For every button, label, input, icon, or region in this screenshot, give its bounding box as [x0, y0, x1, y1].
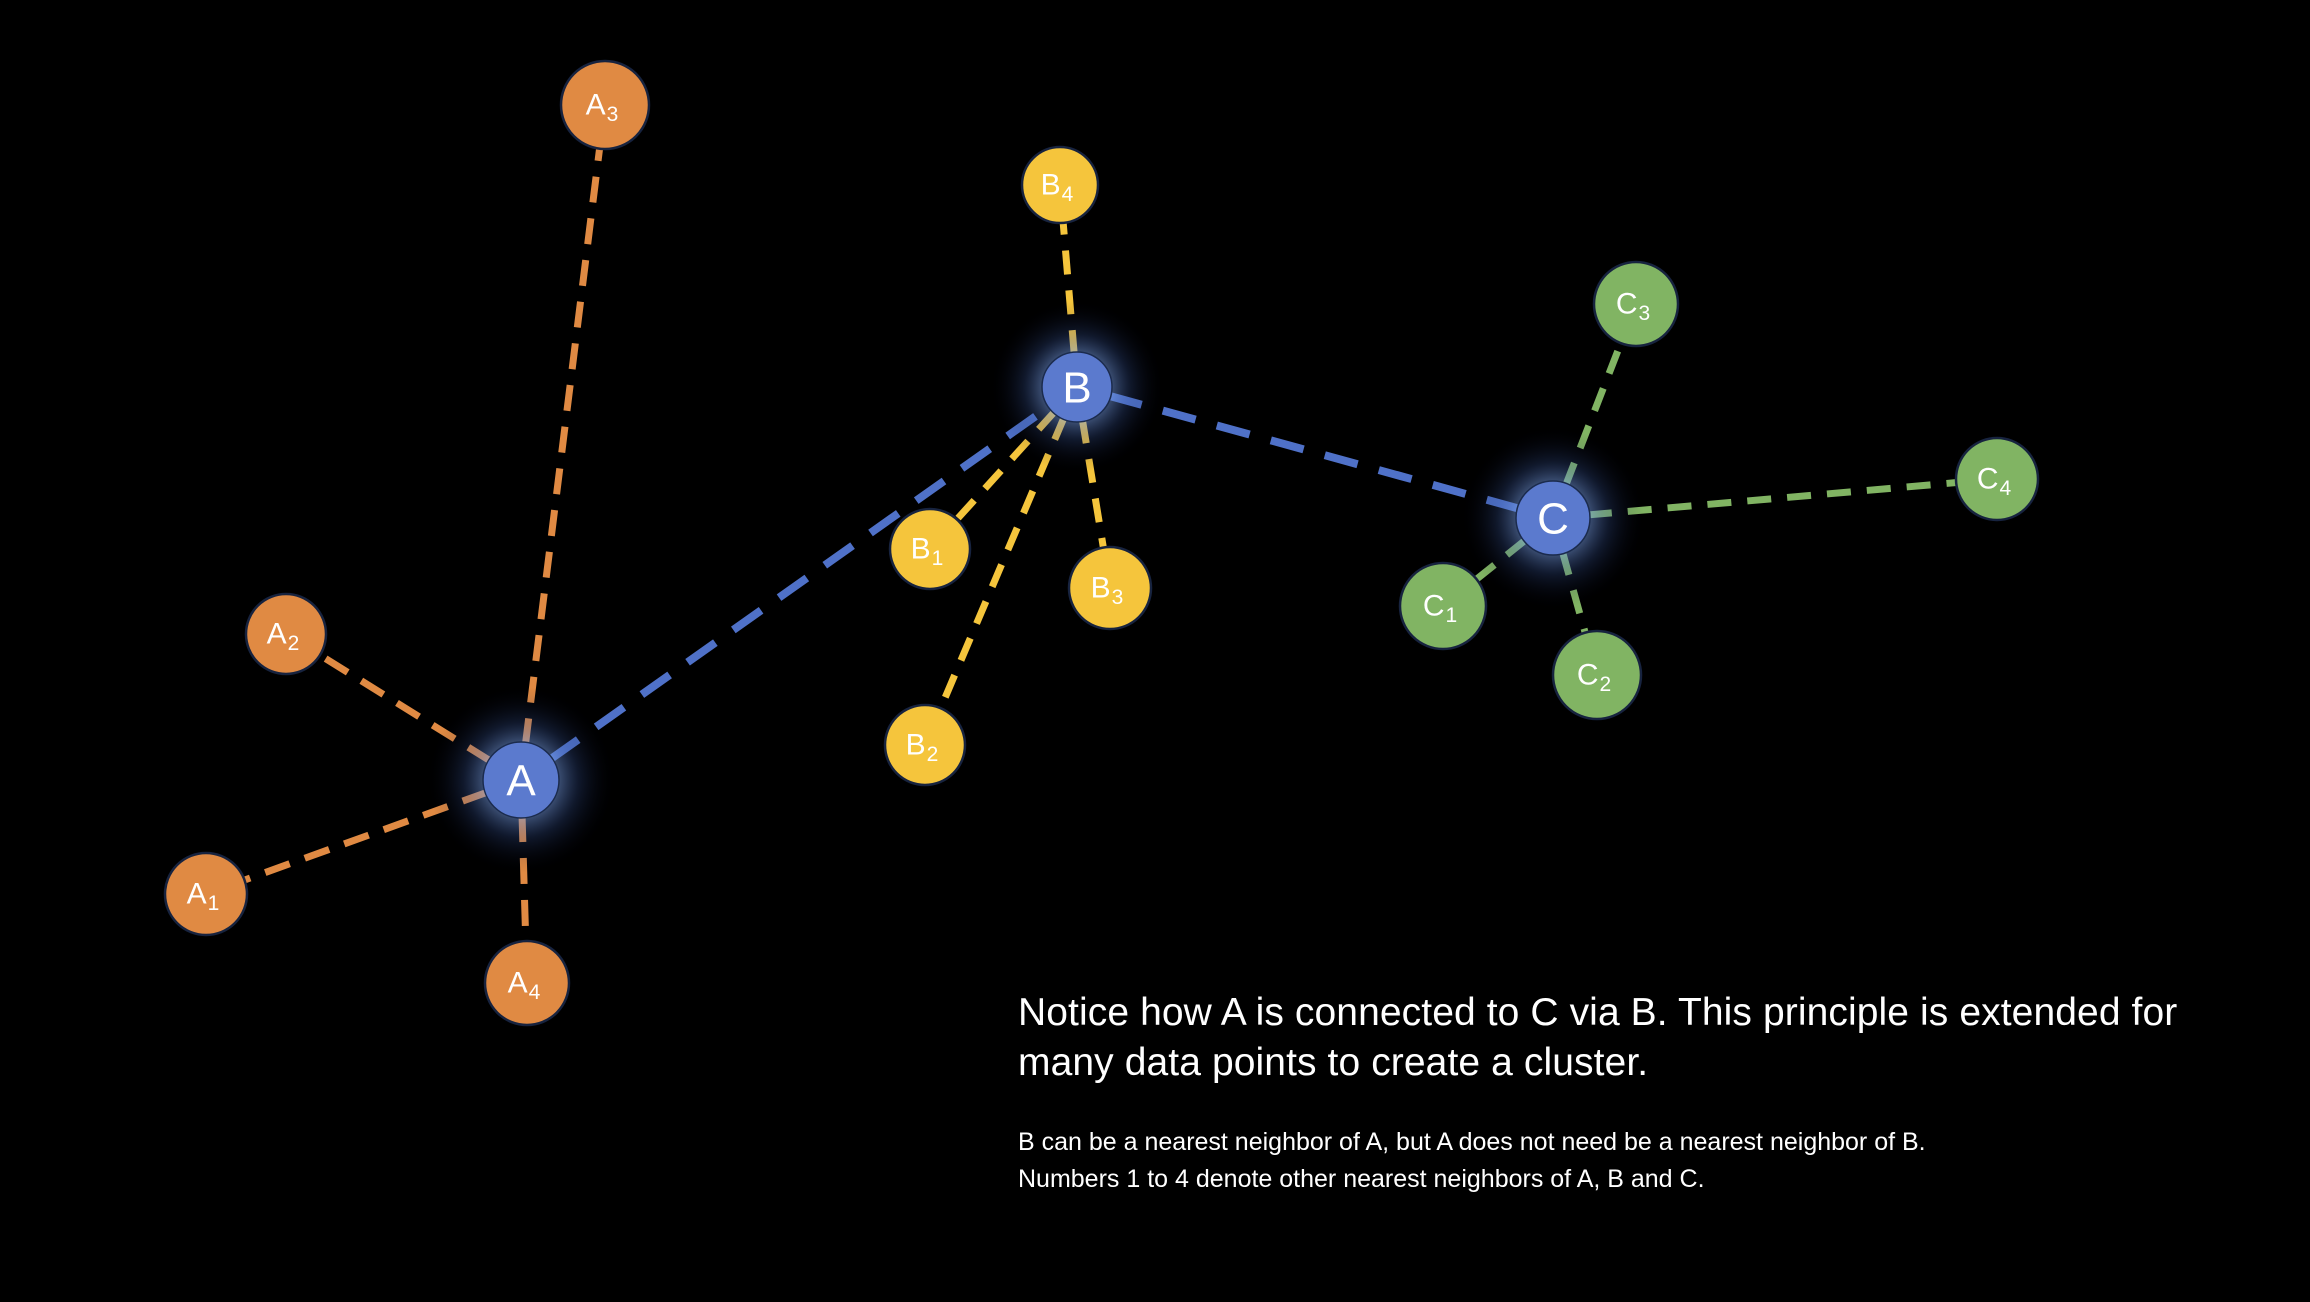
- edge-a-a3: [525, 147, 599, 745]
- node-circle-b1: [890, 509, 970, 589]
- node-circle-b4: [1022, 147, 1098, 223]
- caption-sub-line-2: Numbers 1 to 4 denote other nearest neig…: [1018, 1159, 2218, 1196]
- node-circle-c1: [1400, 563, 1486, 649]
- node-circle-a4: [485, 941, 569, 1025]
- node-b3[interactable]: B3: [1069, 547, 1151, 629]
- caption-main-text: Notice how A is connected to C via B. Th…: [1018, 988, 2218, 1087]
- edge-a-b: [550, 406, 1050, 759]
- node-c1[interactable]: C1: [1400, 563, 1486, 649]
- node-circle-a2: [246, 594, 326, 674]
- node-circle-c: [1516, 481, 1590, 555]
- node-circle-c3: [1594, 262, 1678, 346]
- node-circle-b2: [885, 705, 965, 785]
- node-a3[interactable]: A3: [561, 61, 649, 149]
- node-a4[interactable]: A4: [485, 941, 569, 1025]
- node-circle-a3: [561, 61, 649, 149]
- caption-sub-line-1: B can be a nearest neighbor of A, but A …: [1018, 1087, 2218, 1159]
- node-b2[interactable]: B2: [885, 705, 965, 785]
- node-circle-a1: [165, 853, 247, 935]
- node-c3[interactable]: C3: [1594, 262, 1678, 346]
- node-circle-c2: [1553, 631, 1641, 719]
- node-circle-b: [1042, 352, 1112, 422]
- node-a1[interactable]: A1: [165, 853, 247, 935]
- node-c[interactable]: C: [1516, 481, 1590, 555]
- edge-c-c4: [1588, 482, 1958, 515]
- node-b4[interactable]: B4: [1022, 147, 1098, 223]
- node-circle-b3: [1069, 547, 1151, 629]
- node-c2[interactable]: C2: [1553, 631, 1641, 719]
- node-a[interactable]: A: [483, 742, 559, 818]
- node-circle-c4: [1956, 438, 2038, 520]
- diagram-canvas: A1A2A3A4B1B2B3B4C1C2C3C4ABC Notice how A…: [0, 0, 2310, 1302]
- node-circle-a: [483, 742, 559, 818]
- node-a2[interactable]: A2: [246, 594, 326, 674]
- edge-b-c: [1109, 396, 1519, 509]
- caption-block: Notice how A is connected to C via B. Th…: [1018, 988, 2218, 1197]
- node-b1[interactable]: B1: [890, 509, 970, 589]
- node-c4[interactable]: C4: [1956, 438, 2038, 520]
- node-b[interactable]: B: [1042, 352, 1112, 422]
